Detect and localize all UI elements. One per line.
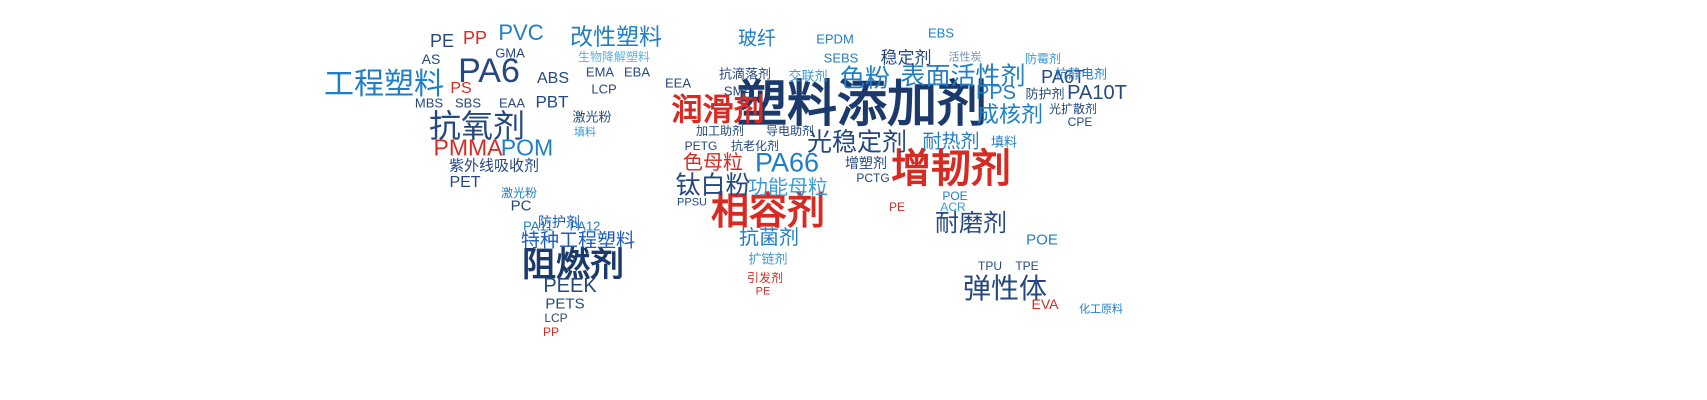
word-cloud-term[interactable]: PE (756, 287, 771, 298)
word-cloud-term[interactable]: PP (463, 29, 487, 47)
word-cloud-term[interactable]: 色粉 (840, 67, 890, 92)
word-cloud-term[interactable]: PVC (498, 22, 543, 44)
word-cloud-term[interactable]: PETG (685, 140, 718, 152)
word-cloud-term[interactable]: LCP (591, 83, 616, 96)
word-cloud-term[interactable]: 光扩散剂 (1049, 103, 1097, 115)
word-cloud-term[interactable]: 润滑剂 (672, 95, 765, 126)
word-cloud-term[interactable]: PA12 (570, 220, 601, 233)
word-cloud-term[interactable]: PA11 (523, 220, 553, 233)
word-cloud-term[interactable]: TPE (1015, 260, 1038, 272)
word-cloud-canvas: 塑料添加剂增韧剂相容剂阻燃剂润滑剂工程塑料抗氧剂PA6表面活性剂光稳定剂弹性体钛… (0, 0, 1707, 400)
word-cloud-term[interactable]: 扩链剂 (748, 253, 787, 266)
word-cloud-term[interactable]: 防霉剂 (1025, 53, 1061, 65)
word-cloud-term[interactable]: PE (430, 32, 454, 50)
word-cloud-term[interactable]: 填料 (991, 136, 1017, 149)
word-cloud-term[interactable]: 生物降解塑料 (578, 51, 650, 63)
word-cloud-term[interactable]: EAA (499, 97, 525, 110)
word-cloud-term[interactable]: ABS (537, 71, 569, 87)
word-cloud-term[interactable]: 特种工程塑料 (521, 232, 635, 251)
word-cloud-term[interactable]: PEEK (543, 276, 596, 296)
word-cloud-term[interactable]: 紫外线吸收剂 (449, 159, 539, 174)
word-cloud-term[interactable]: 化工原料 (1079, 305, 1123, 316)
word-cloud-term[interactable]: 交联剂 (788, 70, 827, 83)
word-cloud-term[interactable]: PE (889, 201, 905, 213)
word-cloud-term[interactable]: EEA (665, 77, 691, 90)
word-cloud-term[interactable]: PMMA (434, 137, 503, 160)
word-cloud-term[interactable]: PPSU (677, 198, 707, 209)
word-cloud-term[interactable]: SBS (455, 97, 481, 110)
word-cloud-term[interactable]: 功能母粒 (748, 178, 828, 198)
word-cloud-term[interactable]: TPU (978, 260, 1002, 272)
word-cloud-term[interactable]: 抗滴落剂 (719, 68, 771, 81)
word-cloud-term[interactable]: PET (449, 175, 480, 191)
word-cloud-term[interactable]: POE (1026, 233, 1058, 248)
word-cloud-term[interactable]: 填料 (574, 128, 596, 139)
word-cloud-term[interactable]: PA66 (755, 150, 819, 177)
word-cloud-term[interactable]: EBS (928, 27, 954, 40)
word-cloud-term[interactable]: 加工助剂 (696, 125, 744, 137)
word-cloud-term[interactable]: EBA (624, 66, 650, 79)
word-cloud-term[interactable]: 玻纤 (738, 30, 776, 49)
word-cloud-term[interactable]: POM (501, 137, 553, 160)
word-cloud-term[interactable]: AS (422, 52, 441, 66)
word-cloud-term[interactable]: 导电助剂 (766, 125, 814, 137)
word-cloud-term[interactable]: 色母粒 (683, 153, 743, 173)
word-cloud-term[interactable]: 改性塑料 (570, 26, 662, 49)
word-cloud-term[interactable]: 耐磨剂 (935, 212, 1007, 236)
word-cloud-term[interactable]: PBT (535, 94, 568, 111)
word-cloud-term[interactable]: MBS (415, 97, 443, 110)
word-cloud-term[interactable]: 激光粉 (501, 187, 537, 199)
word-cloud-term[interactable]: 抗菌剂 (739, 228, 799, 248)
word-cloud-term[interactable]: EPDM (816, 33, 854, 46)
word-cloud-term[interactable]: 引发剂 (747, 272, 783, 284)
word-cloud-term[interactable]: CPE (1068, 116, 1093, 128)
word-cloud-term[interactable]: 抗静电剂 (1055, 68, 1107, 81)
word-cloud-term[interactable]: EVA (1032, 297, 1059, 311)
word-cloud-term[interactable]: ACR (940, 201, 965, 213)
word-cloud-term[interactable]: SEBS (824, 52, 859, 65)
word-cloud-term[interactable]: PP (543, 326, 559, 338)
word-cloud-term[interactable]: PC (511, 199, 532, 214)
word-cloud-term[interactable]: 激光粉 (572, 111, 611, 124)
word-cloud-term[interactable]: 成核剂 (977, 104, 1043, 126)
word-cloud-term[interactable]: 钛白粉 (675, 174, 750, 199)
word-cloud-term[interactable]: 抗老化剂 (731, 140, 779, 152)
word-cloud-term[interactable]: LCP (544, 312, 567, 324)
word-cloud-term[interactable]: 耐热剂 (922, 133, 979, 152)
word-cloud-term[interactable]: 增塑剂 (845, 156, 887, 170)
word-cloud-term[interactable]: 活性炭 (949, 53, 982, 64)
word-cloud-term[interactable]: 光稳定剂 (807, 131, 907, 156)
word-cloud-term[interactable]: PCTG (856, 172, 889, 184)
word-cloud-term[interactable]: PPS (976, 83, 1016, 103)
word-cloud-term[interactable]: EMA (586, 66, 614, 79)
word-cloud-term[interactable]: PETS (545, 297, 584, 312)
word-cloud-term[interactable]: 防护剂 (1025, 88, 1064, 101)
word-cloud-term[interactable]: 稳定剂 (881, 50, 932, 67)
word-cloud-term[interactable]: SMA (724, 85, 752, 98)
word-cloud-term[interactable]: 增韧剂 (891, 149, 1011, 189)
word-cloud-term[interactable]: GMA (495, 47, 525, 60)
